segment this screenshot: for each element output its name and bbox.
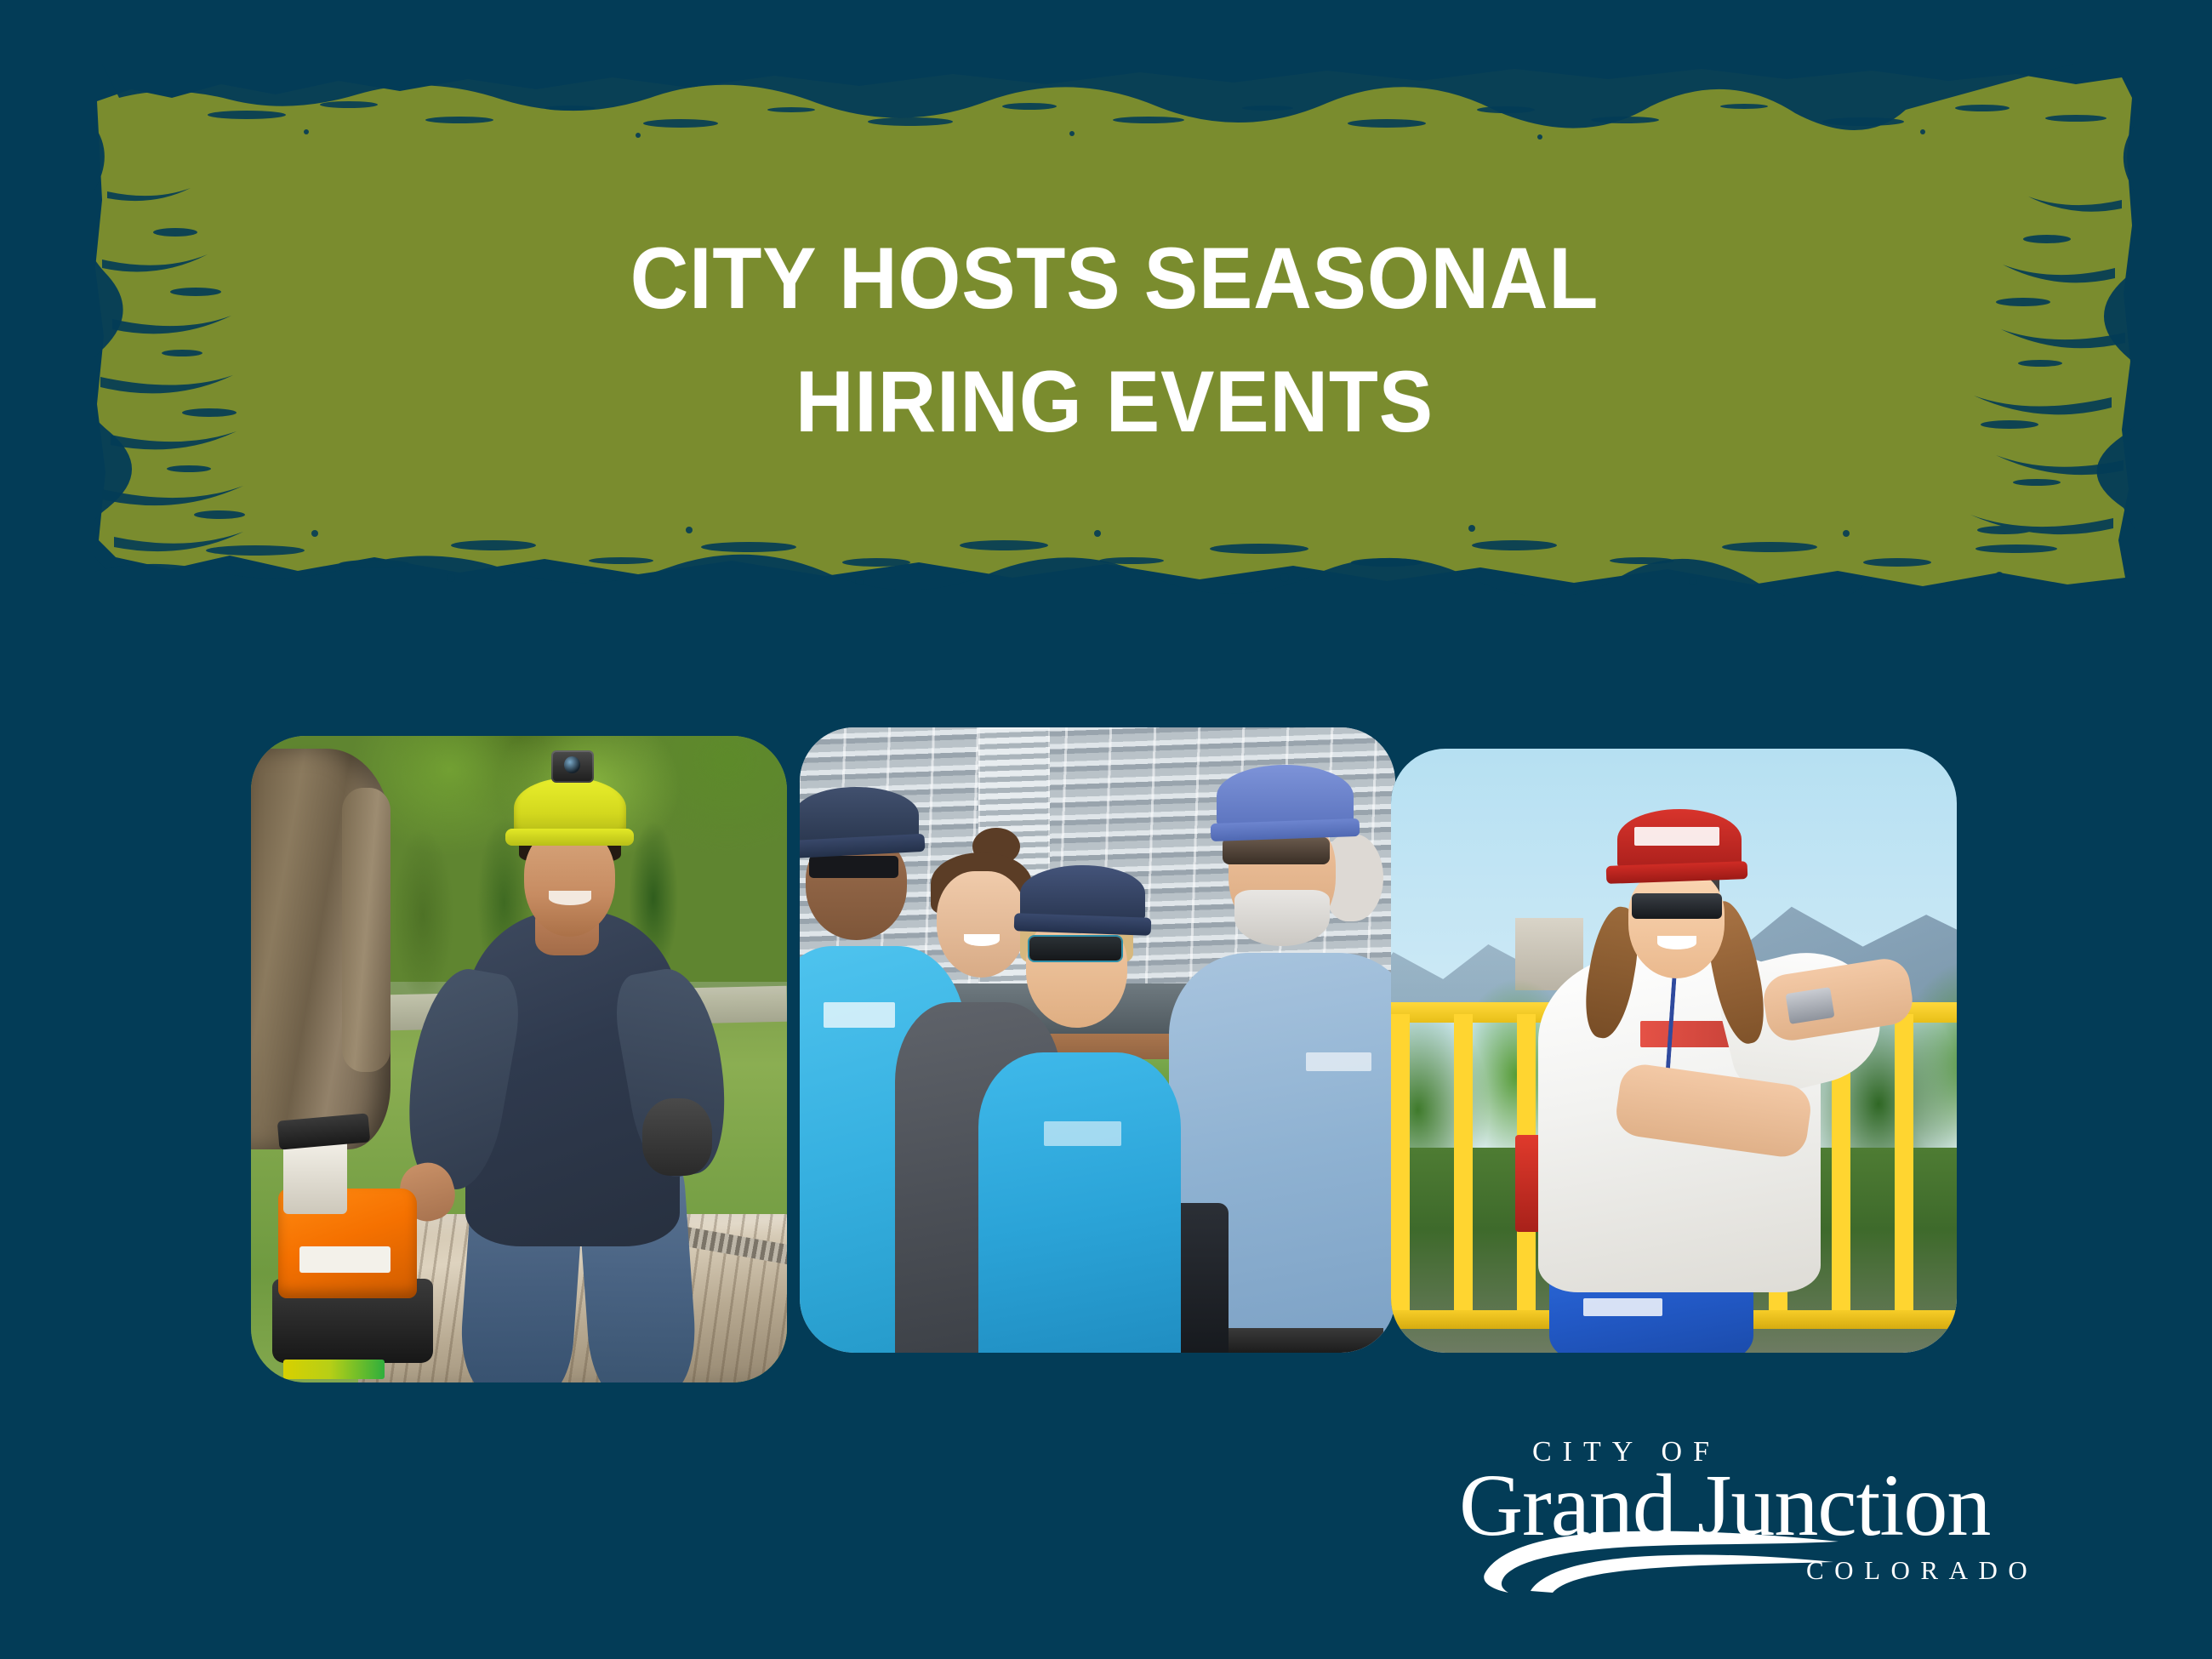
photo2-person4-cap [1217,765,1354,828]
logo-state-text: COLORADO [1806,1557,2038,1583]
photo3-lifeguard-face [1628,869,1725,978]
photo2-person2-smile [964,934,1000,947]
photo2-person4-belt [1205,1328,1383,1353]
photo1-camera-lens [564,756,580,773]
photo2-person4-beard [1234,890,1330,946]
river-swoosh-shape [1483,1526,1840,1594]
photo3-lifeguard-smile [1657,936,1697,949]
photo-parks-staff-group [800,727,1395,1353]
river-swoosh-icon [1483,1526,1840,1594]
photo2-person3-shirt [978,1052,1181,1353]
photo1-helmet-brim [505,829,634,846]
photo2-person1-shirt-logo [824,1002,895,1027]
photo1-chainsaw-guard [283,1360,385,1379]
photo2-person3-cap [1020,865,1145,921]
photo1-tree-trunk-second [342,788,391,1072]
photo2-person2-face [937,871,1026,978]
headline-line-1: CITY HOSTS SEASONAL [165,217,2064,340]
photo2-person4-sunglasses [1223,837,1330,864]
announcement-graphic: CITY HOSTS SEASONAL HIRING EVENTS [0,0,2212,1659]
photo3-cap-guard-text [1634,827,1719,845]
photo2-person4-brand-logo [1306,1052,1371,1071]
photo-lifeguard [1391,749,1957,1353]
photo2-person1-sunglasses [809,856,898,878]
photo1-chainsaw-label [299,1246,391,1272]
photo3-sunglasses [1632,893,1722,919]
photo3-shorts-brand-label [1583,1298,1662,1316]
page-title: CITY HOSTS SEASONAL HIRING EVENTS [165,217,2064,464]
city-of-grand-junction-logo: CITY OF Grand Junction COLORADO [1459,1438,2114,1591]
headline-line-2: HIRING EVENTS [165,340,2064,464]
photo-forestry-worker [251,736,787,1382]
photo2-person3-sunglasses [1029,937,1122,961]
photo1-work-glove [642,1098,712,1176]
photo1-worker-smile [549,891,591,905]
photo2-person3-shirt-logo [1044,1121,1121,1146]
